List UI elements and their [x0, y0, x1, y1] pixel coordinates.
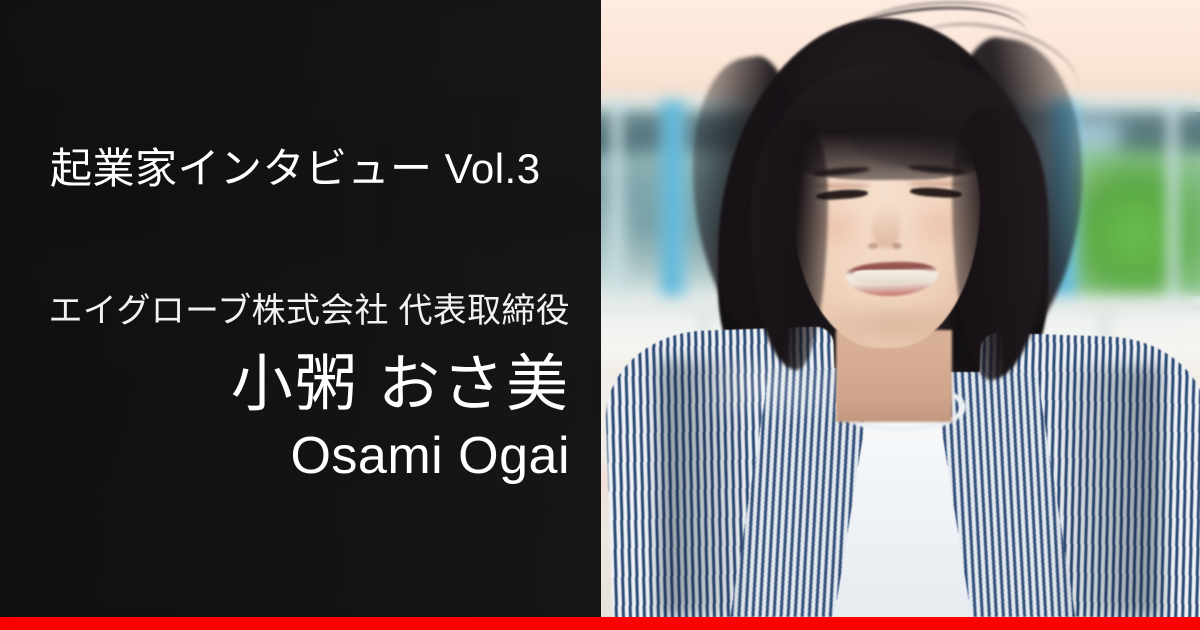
shoulder-highlight: [708, 356, 838, 416]
woman-subject: [600, 0, 1200, 617]
person-name-en: Osami Ogai: [290, 430, 570, 482]
nostril-right: [892, 243, 902, 249]
jacket-right-shadow: [1050, 366, 1160, 617]
nose: [872, 204, 900, 248]
chin-shadow: [836, 306, 948, 340]
company-title: エイグローブ株式会社 代表取締役: [48, 294, 570, 328]
nostril-left: [868, 243, 878, 249]
teeth: [854, 270, 930, 284]
text-block: 起業家インタビュー Vol.3 エイグローブ株式会社 代表取締役 小粥 おさ美 …: [0, 0, 601, 617]
series-kicker: 起業家インタビュー Vol.3: [50, 148, 541, 190]
accent-bar: [0, 617, 1200, 630]
person-name-ja: 小粥 おさ美: [231, 354, 570, 416]
interview-banner: 起業家インタビュー Vol.3 エイグローブ株式会社 代表取締役 小粥 おさ美 …: [0, 0, 1200, 630]
